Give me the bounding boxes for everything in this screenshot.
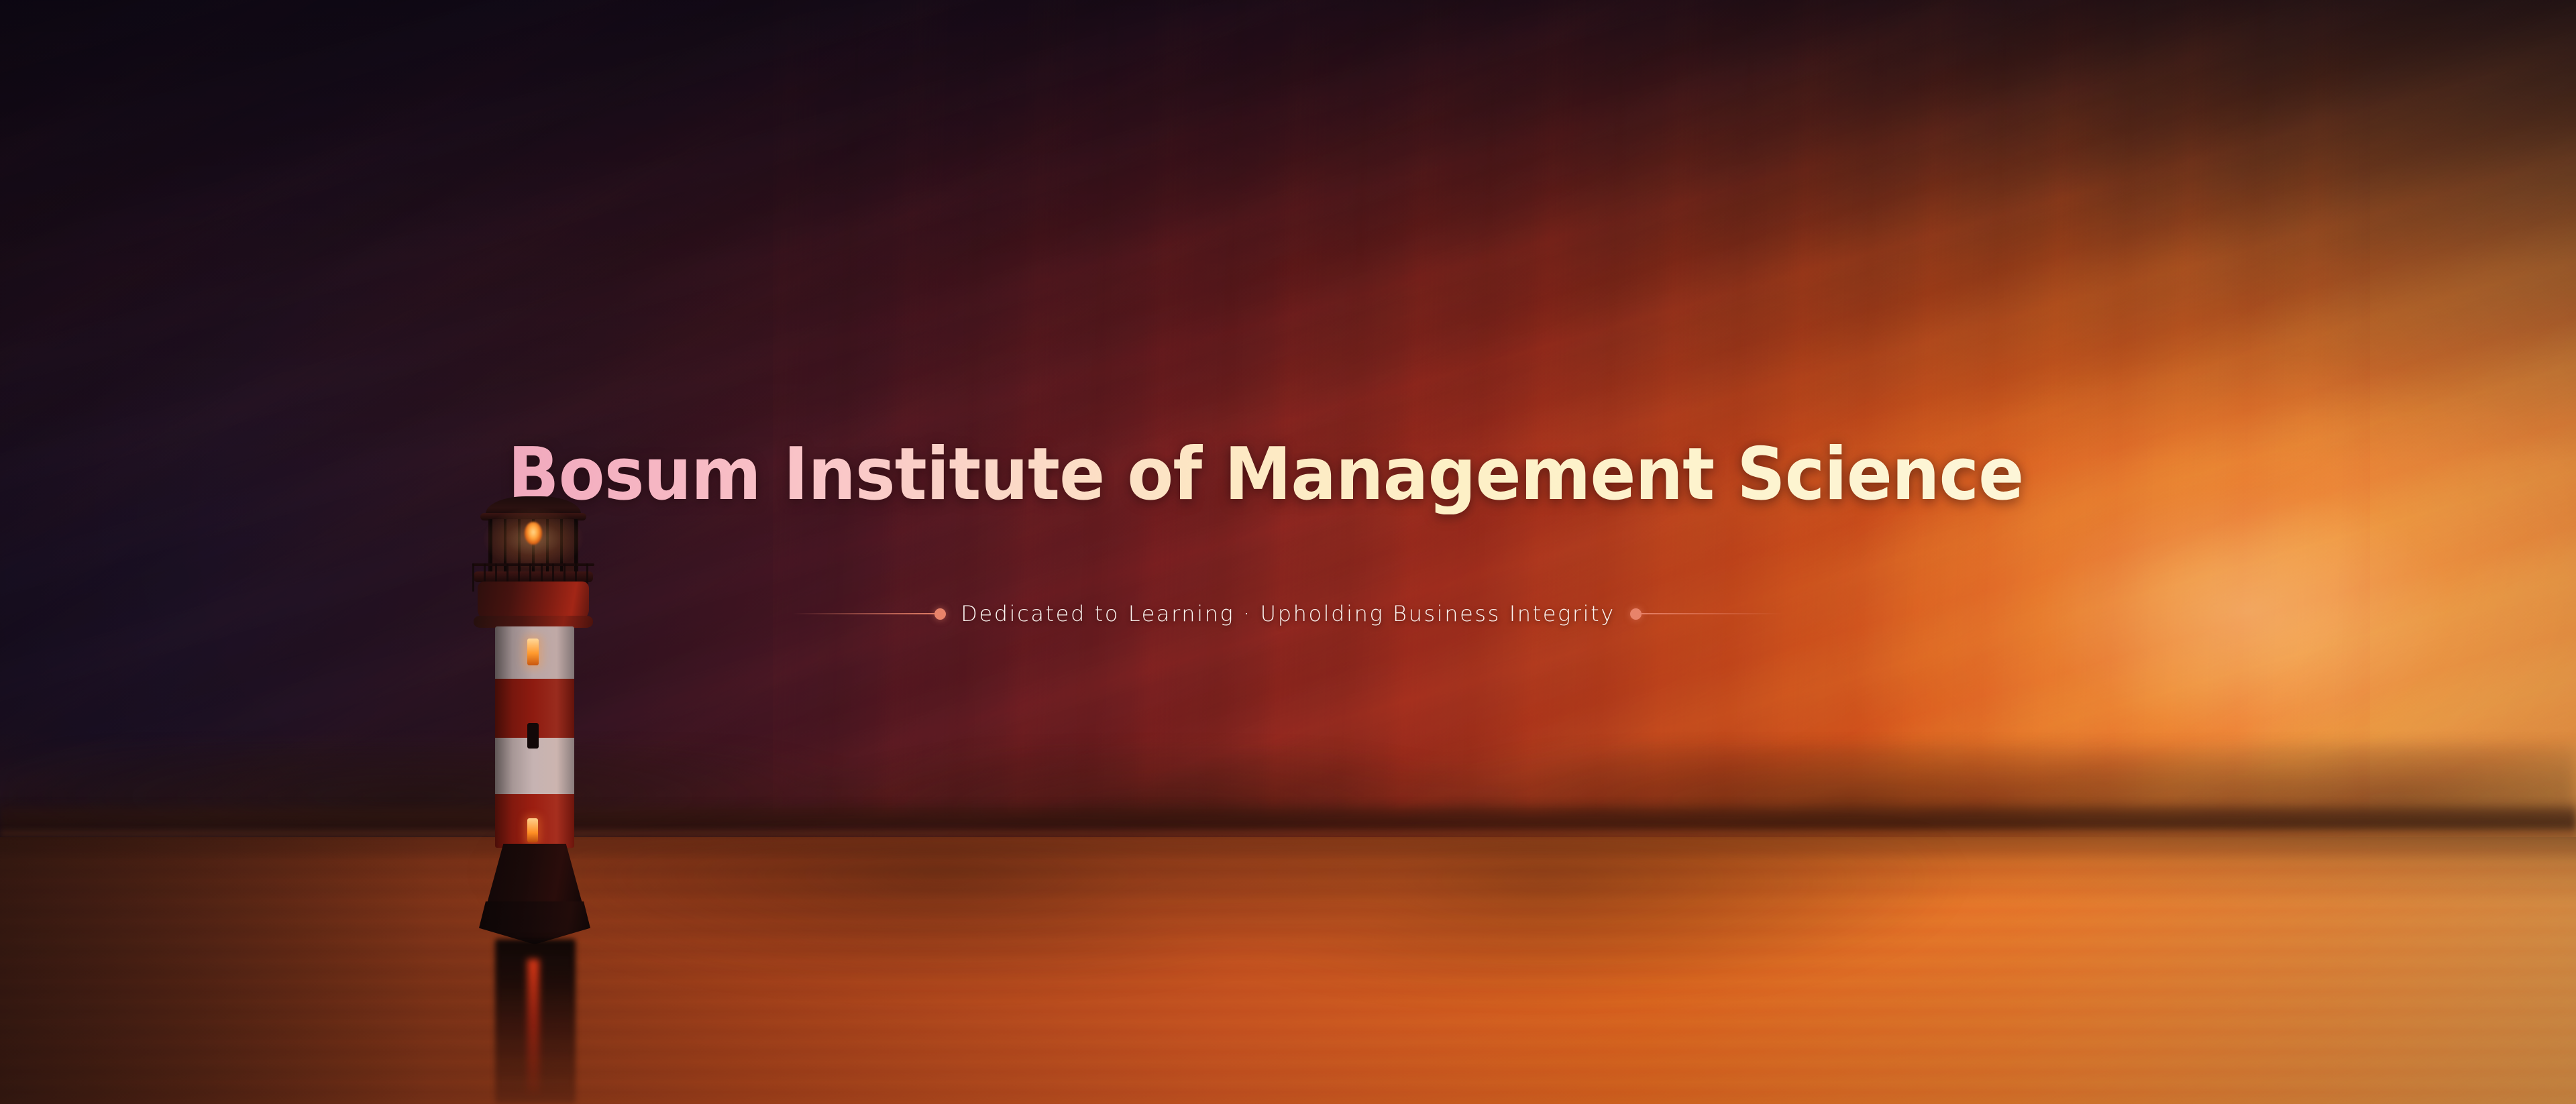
sky-vertical-shade [0,0,2576,1104]
tower-drum [478,582,589,620]
reflection-light-streak [527,959,539,1093]
tower-window-lit-lower [527,818,538,842]
lamp-light-icon [525,522,542,545]
page-subtitle: Dedicated to Learning · Upholding Busine… [961,601,1615,626]
page-title: Bosum Institute of Management Science [508,436,2023,514]
tower-window-dark [527,723,539,749]
hero-banner: Bosum Institute of Management Science De… [0,0,2576,1104]
tower-window-lit-upper [527,639,539,665]
lighthouse-illustration [463,496,604,1104]
tower-taper [486,844,584,908]
tower-plinth-base [479,901,590,944]
